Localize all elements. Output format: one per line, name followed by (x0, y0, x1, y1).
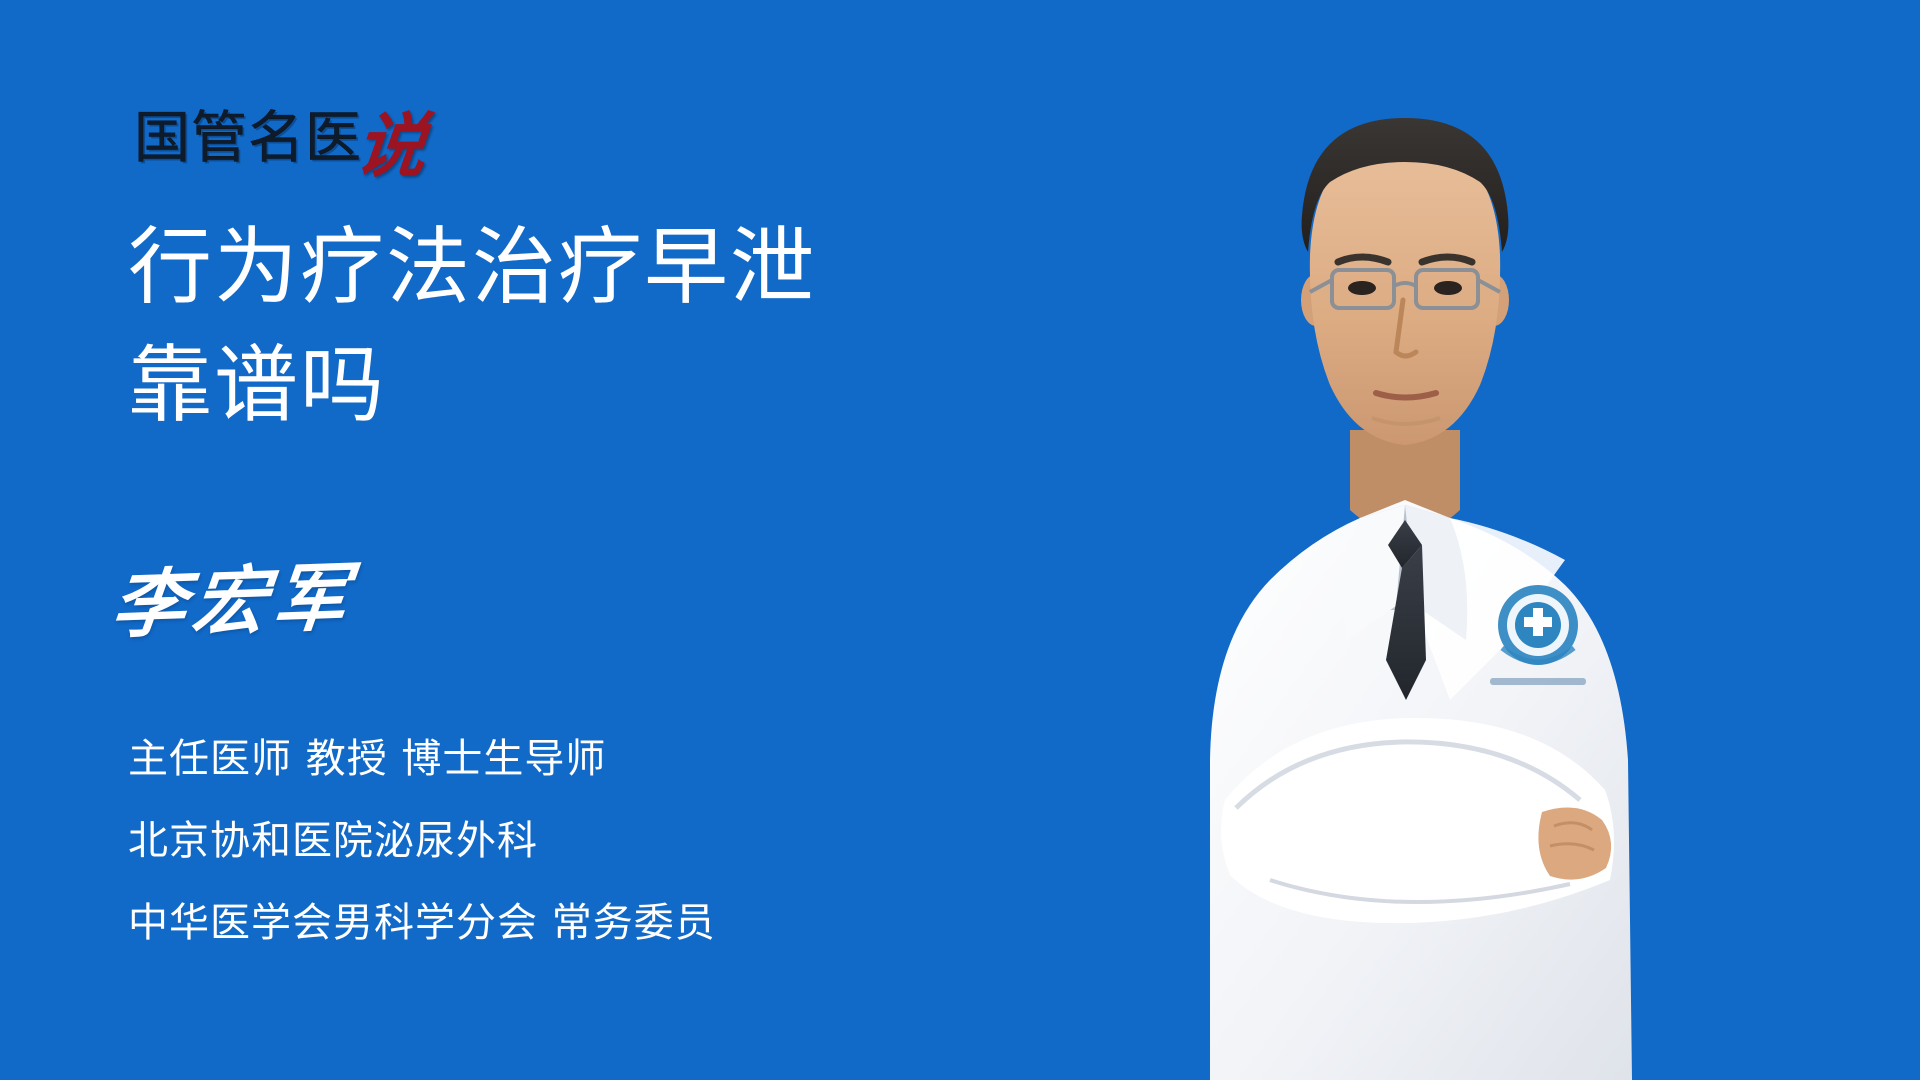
doctor-name: 李宏军 (107, 552, 358, 652)
brand-logo-accent-text: 说 (353, 116, 429, 176)
brand-logo: 国管名医 说 (134, 96, 426, 168)
doctor-credentials: 主任医师 教授 博士生导师 北京协和医院泌尿外科 中华医学会男科学分会 常务委员 (128, 718, 1028, 964)
head (1301, 118, 1509, 445)
page-title: 行为疗法治疗早泄 靠谱吗 (128, 208, 1088, 444)
brand-logo-main-text: 国管名医 (134, 110, 362, 168)
poster-canvas: 国管名医 说 行为疗法治疗早泄 靠谱吗 李宏军 主任医师 教授 博士生导师 北京… (0, 0, 1920, 1080)
doctor-portrait (1150, 0, 1920, 1080)
credential-line-1: 主任医师 教授 博士生导师 (128, 718, 1028, 800)
title-line-2: 靠谱吗 (128, 326, 1088, 444)
credential-line-3: 中华医学会男科学分会 常务委员 (128, 882, 1028, 964)
credential-line-2: 北京协和医院泌尿外科 (128, 800, 1028, 882)
title-line-1: 行为疗法治疗早泄 (128, 208, 1088, 326)
doctor-portrait-illustration (1150, 0, 1920, 1080)
